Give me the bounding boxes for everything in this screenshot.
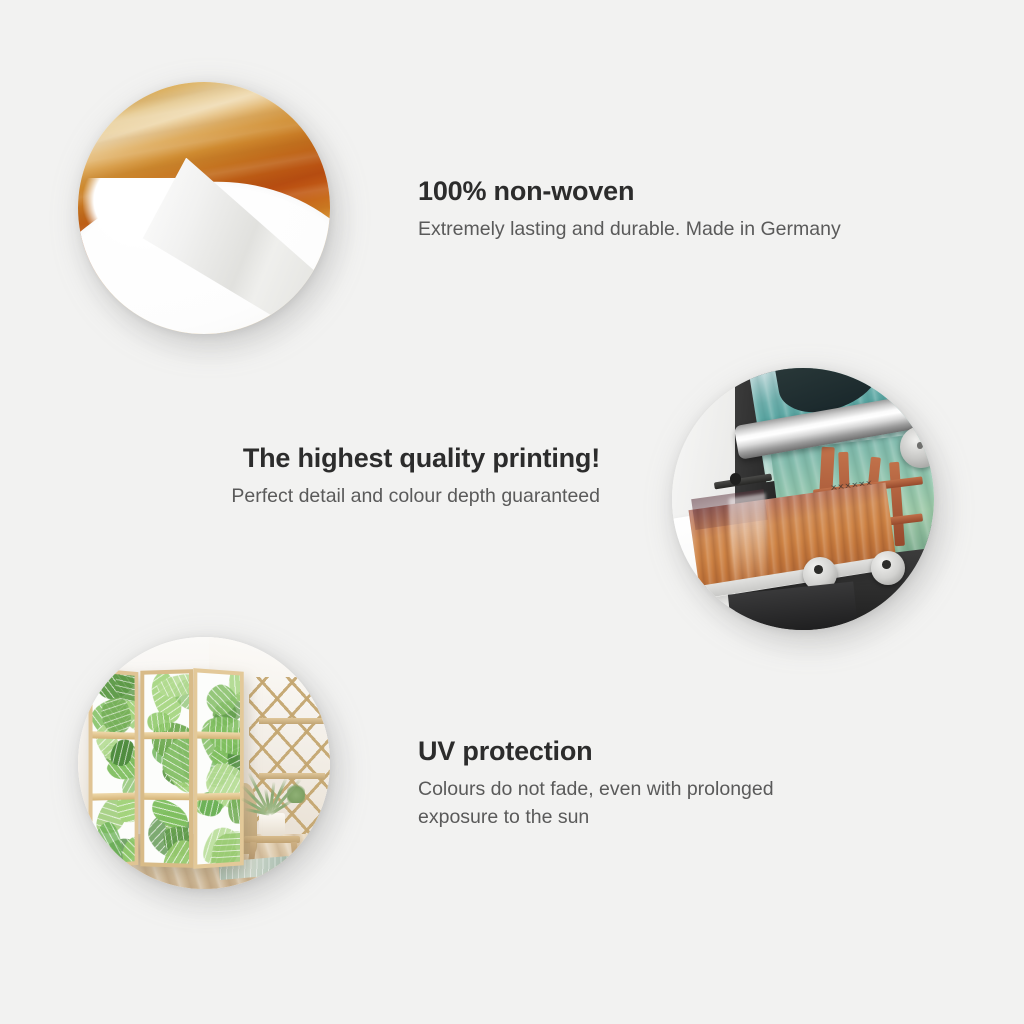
divider-cross-rail <box>197 792 239 800</box>
text-block-printing: The highest quality printing! Perfect de… <box>196 443 600 511</box>
divider-cross-rail <box>197 732 239 740</box>
folding-room-divider <box>88 670 244 867</box>
lattice-shelf-board <box>259 718 325 724</box>
divider-leaf-print <box>197 672 239 864</box>
divider-leaf-print <box>93 672 135 864</box>
roller-pin <box>917 442 924 449</box>
feature-heading: 100% non-woven <box>418 176 858 207</box>
feature-description: Extremely lasting and durable. Made in G… <box>418 216 858 244</box>
divider-panel <box>89 668 138 869</box>
divider-leaf-print <box>144 673 189 863</box>
feature-description: Colours do not fade, even with prolonged… <box>418 776 818 831</box>
divider-panel <box>193 668 243 868</box>
roller-end-cap <box>900 426 934 468</box>
printer-handle-knob <box>730 473 742 485</box>
divider-cross-rail <box>93 792 135 800</box>
peeling-wallpaper-corner-image <box>78 82 330 334</box>
printer-knob-dot <box>882 560 891 569</box>
printer-knob-dot <box>814 565 823 574</box>
feature-heading: The highest quality printing! <box>196 443 600 474</box>
wide-format-printer-image <box>672 368 934 630</box>
divider-cross-rail <box>144 732 189 739</box>
printed-wood-highlight <box>728 494 767 583</box>
lattice-shelf-board <box>259 773 325 779</box>
divider-cross-rail <box>93 732 135 740</box>
divider-cross-rail <box>144 792 189 799</box>
text-block-uv-protection: UV protection Colours do not fade, even … <box>418 736 818 831</box>
feature-heading: UV protection <box>418 736 818 767</box>
tropical-room-divider-image <box>78 637 330 889</box>
divider-panel <box>140 669 193 867</box>
feature-description: Perfect detail and colour depth guarante… <box>196 483 600 511</box>
infographic-canvas: 100% non-woven Extremely lasting and dur… <box>0 0 1024 1024</box>
plant-pot <box>259 813 284 836</box>
text-block-non-woven: 100% non-woven Extremely lasting and dur… <box>418 176 858 244</box>
